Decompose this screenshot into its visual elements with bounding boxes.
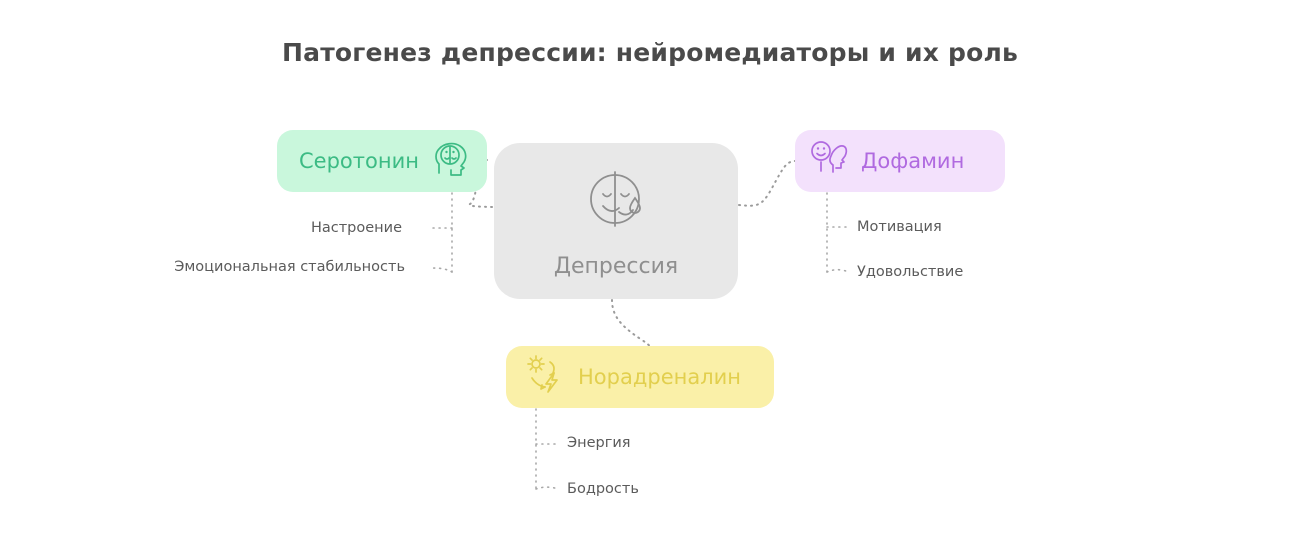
sun-lightning-icon [524, 354, 566, 400]
node-depression[interactable]: Депрессия [494, 143, 738, 299]
connector-dopamine-leaf-2 [827, 270, 849, 272]
node-noradrenaline-label: Норадреналин [578, 365, 741, 389]
leaf-serotonin-mood: Настроение [311, 220, 402, 236]
node-noradrenaline[interactable]: Норадреналин [506, 346, 774, 408]
leaf-serotonin-stability: Эмоциональная стабильность [174, 259, 405, 275]
head-smiley-icon [809, 138, 849, 184]
leaf-noradrenaline-vigor: Бодрость [567, 481, 639, 497]
node-serotonin-label: Серотонин [299, 149, 419, 173]
node-serotonin[interactable]: Серотонин [277, 130, 487, 192]
connector-center-noradrenaline [612, 300, 651, 348]
node-dopamine[interactable]: Дофамин [795, 130, 1005, 192]
leaf-dopamine-motivation: Мотивация [857, 219, 942, 235]
split-face-happy-sad-icon [581, 164, 651, 238]
head-brain-icon [433, 139, 471, 183]
page-title: Патогенез депрессии: нейромедиаторы и их… [0, 38, 1300, 67]
connector-center-dopamine [739, 161, 795, 206]
connector-noradrenaline-leaf-2 [536, 487, 559, 489]
node-depression-label: Депрессия [554, 254, 678, 279]
connector-serotonin-leaf-2 [432, 268, 452, 272]
mindmap-canvas: Патогенез депрессии: нейромедиаторы и их… [0, 0, 1300, 546]
leaf-noradrenaline-energy: Энергия [567, 435, 631, 451]
leaf-dopamine-pleasure: Удовольствие [857, 264, 963, 280]
node-dopamine-label: Дофамин [861, 149, 964, 173]
